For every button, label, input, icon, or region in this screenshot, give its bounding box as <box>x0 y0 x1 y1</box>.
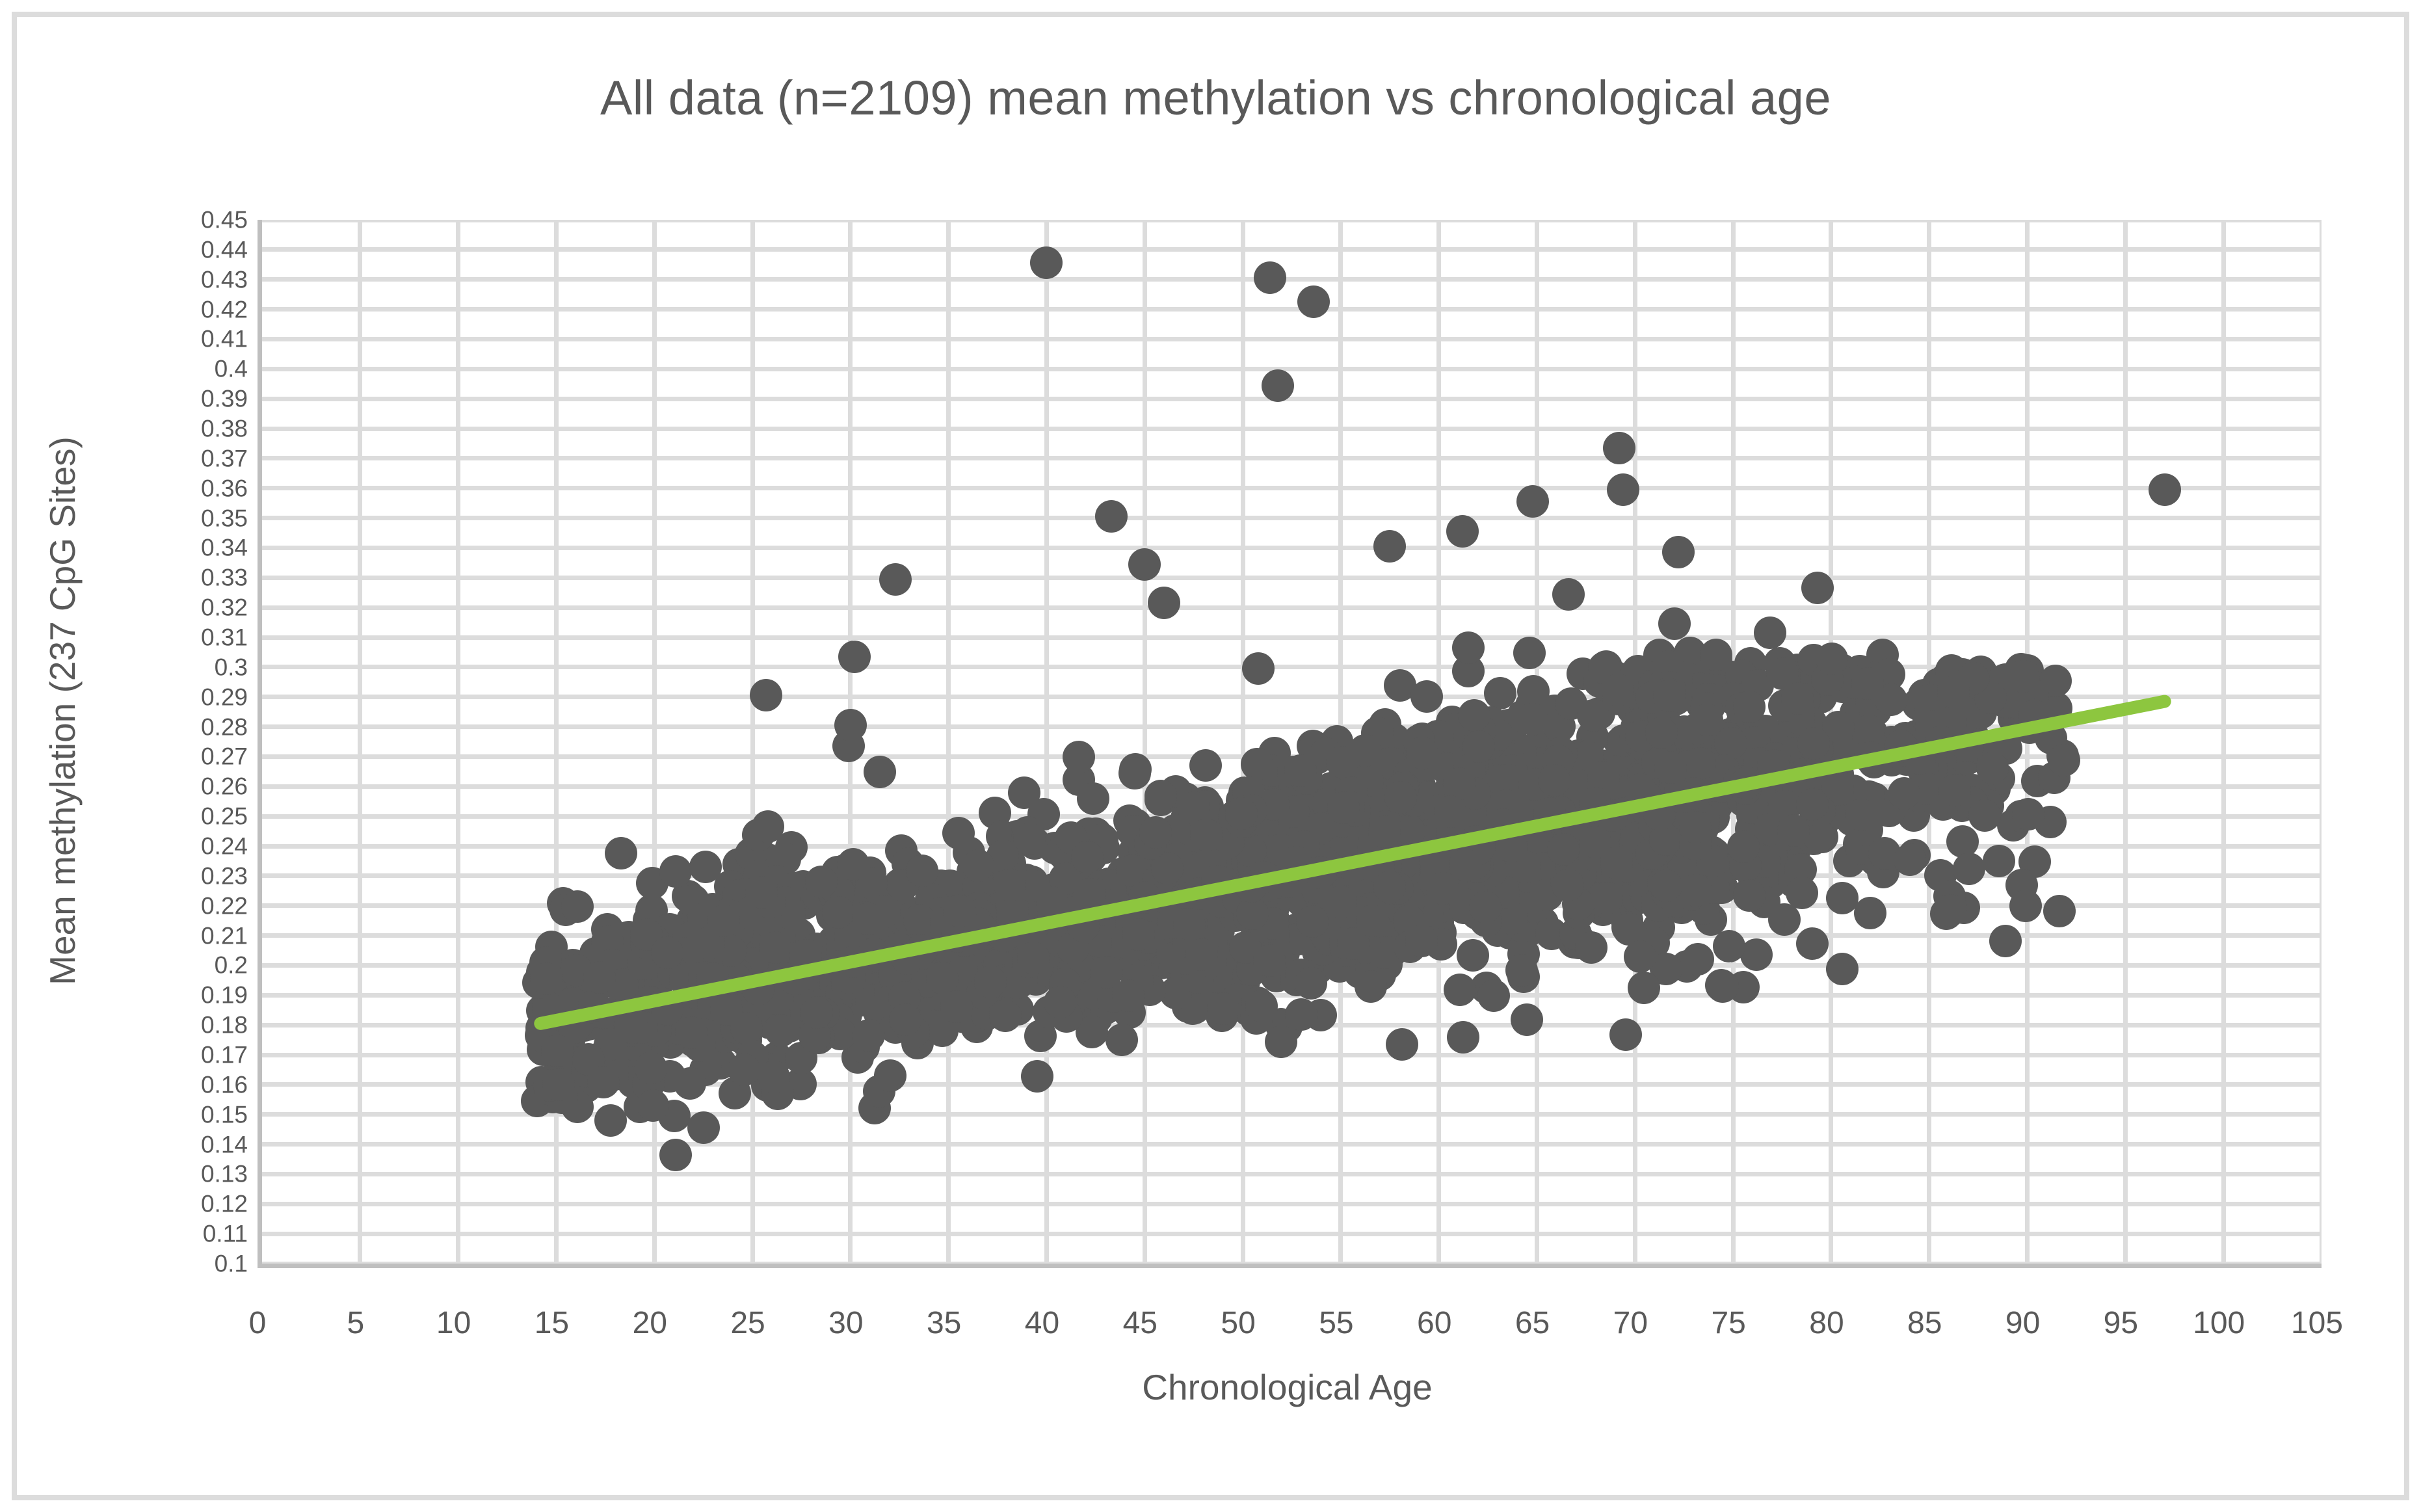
y-tick-label: 0.35 <box>201 506 248 530</box>
x-tick-label: 80 <box>1809 1308 1844 1339</box>
y-tick-label: 0.13 <box>201 1162 248 1186</box>
x-tick-label: 25 <box>730 1308 765 1339</box>
y-tick-label: 0.23 <box>201 864 248 888</box>
y-tick-label: 0.19 <box>201 983 248 1007</box>
x-tick-label: 100 <box>2193 1308 2245 1339</box>
trendline <box>262 220 2322 1264</box>
y-tick-label: 0.29 <box>201 685 248 709</box>
x-tick-label: 95 <box>2104 1308 2138 1339</box>
y-tick-label: 0.11 <box>203 1222 248 1246</box>
x-tick-label: 40 <box>1025 1308 1059 1339</box>
y-tick-label: 0.26 <box>201 775 248 799</box>
y-tick-label: 0.39 <box>201 387 248 411</box>
y-tick-label: 0.17 <box>201 1043 248 1067</box>
plot-area <box>258 220 2322 1268</box>
x-tick-label: 5 <box>347 1308 364 1339</box>
y-axis-tick-labels: 0.10.110.120.130.140.150.160.170.180.190… <box>82 220 248 1264</box>
y-tick-label: 0.34 <box>201 536 248 560</box>
y-tick-label: 0.36 <box>201 476 248 500</box>
x-tick-label: 70 <box>1613 1308 1648 1339</box>
x-tick-label: 20 <box>633 1308 667 1339</box>
y-tick-label: 0.2 <box>215 953 248 977</box>
chart-frame: All data (n=2109) mean methylation vs ch… <box>12 12 2409 1500</box>
x-tick-label: 50 <box>1221 1308 1255 1339</box>
x-tick-label: 55 <box>1319 1308 1353 1339</box>
y-tick-label: 0.41 <box>201 327 248 351</box>
y-tick-label: 0.43 <box>201 267 248 291</box>
y-tick-label: 0.27 <box>201 745 248 769</box>
y-tick-label: 0.18 <box>201 1013 248 1037</box>
y-tick-label: 0.25 <box>201 804 248 829</box>
x-tick-label: 0 <box>249 1308 267 1339</box>
y-tick-label: 0.14 <box>201 1132 248 1156</box>
x-tick-label: 65 <box>1515 1308 1550 1339</box>
y-tick-label: 0.37 <box>201 446 248 470</box>
y-axis-title: Mean methylation (237 CpG Sites) <box>42 330 83 1091</box>
chart-title: All data (n=2109) mean methylation vs ch… <box>17 70 2414 126</box>
y-tick-label: 0.22 <box>201 894 248 918</box>
y-tick-label: 0.24 <box>201 834 248 858</box>
x-tick-label: 35 <box>927 1308 961 1339</box>
trendline-segment <box>540 702 2164 1024</box>
y-tick-label: 0.33 <box>201 566 248 590</box>
y-tick-label: 0.28 <box>201 715 248 739</box>
x-tick-label: 75 <box>1711 1308 1745 1339</box>
y-tick-label: 0.42 <box>201 297 248 321</box>
y-tick-label: 0.44 <box>201 237 248 261</box>
x-tick-label: 105 <box>2291 1308 2343 1339</box>
x-tick-label: 30 <box>828 1308 863 1339</box>
x-axis-title: Chronological Age <box>258 1366 2317 1408</box>
y-tick-label: 0.21 <box>201 923 248 948</box>
y-tick-label: 0.32 <box>201 596 248 620</box>
x-tick-label: 45 <box>1123 1308 1158 1339</box>
y-tick-label: 0.3 <box>215 655 248 679</box>
y-tick-label: 0.38 <box>201 417 248 441</box>
x-tick-label: 15 <box>535 1308 569 1339</box>
y-tick-label: 0.12 <box>201 1192 248 1216</box>
y-tick-label: 0.4 <box>215 357 248 381</box>
y-tick-label: 0.45 <box>201 208 248 232</box>
y-tick-label: 0.1 <box>215 1252 248 1276</box>
y-tick-label: 0.31 <box>201 626 248 650</box>
x-tick-label: 10 <box>436 1308 471 1339</box>
x-tick-label: 85 <box>1907 1308 1942 1339</box>
x-tick-label: 60 <box>1417 1308 1451 1339</box>
y-tick-label: 0.15 <box>201 1102 248 1126</box>
y-tick-label: 0.16 <box>201 1072 248 1096</box>
x-axis-tick-labels: 0510152025303540455055606570758085909510… <box>258 1308 2317 1353</box>
x-tick-label: 90 <box>2005 1308 2040 1339</box>
